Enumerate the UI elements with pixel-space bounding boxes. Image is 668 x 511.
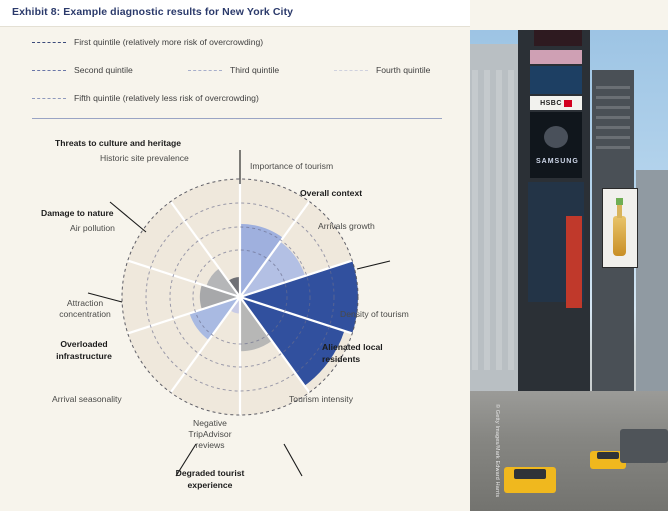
legend-row-2: Second quintile Third quintile Fourth qu… (0, 66, 470, 86)
legend-divider (32, 118, 442, 119)
photo-credit: © Getty Images/Mark Edward Harris (494, 404, 500, 497)
label-degraded-tourist-line2: experience (150, 480, 270, 491)
legend-item-fifth-quintile: Fifth quintile (relatively less risk of … (32, 94, 259, 103)
label-damage-to-nature-group: Damage to nature (41, 208, 114, 219)
photo-billboard-pink (530, 50, 582, 64)
photo-window-strip (472, 70, 478, 370)
photo-billboard-hsbc: HSBC (530, 96, 582, 110)
leader-line-threats (110, 202, 146, 232)
legend: First quintile (relatively more risk of … (0, 28, 470, 116)
photo-beer-bottlecap (616, 198, 623, 205)
label-arrival-seasonality: Arrival seasonality (52, 394, 122, 405)
photo-window-row (596, 136, 630, 139)
page-title: Exhibit 8: Example diagnostic results fo… (12, 6, 293, 18)
title-divider (0, 26, 470, 27)
photo-billboard-top (534, 30, 582, 46)
photo-window-row (596, 86, 630, 89)
legend-row-1: First quintile (relatively more risk of … (0, 38, 470, 58)
exhibit-page: Exhibit 8: Example diagnostic results fo… (0, 0, 668, 511)
legend-dash-icon (32, 42, 66, 43)
leader-line-degraded-right (284, 444, 302, 476)
label-negative-tripadvisor-line2: TripAdvisor (160, 429, 260, 440)
photo-window-row (596, 116, 630, 119)
label-alienated-local-line2: residents (322, 354, 360, 365)
title-bar: Exhibit 8: Example diagnostic results fo… (0, 0, 470, 26)
photo-taxi-left-window (514, 469, 546, 479)
legend-item-third-quintile: Third quintile (188, 66, 279, 75)
label-density-of-tourism: Density of tourism (340, 309, 409, 320)
legend-dash-icon (32, 98, 66, 99)
hsbc-text: HSBC (540, 100, 562, 107)
label-alienated-local-line1: Alienated local (322, 342, 383, 353)
label-historic-site-prevalence: Historic site prevalence (100, 153, 189, 164)
legend-item-fourth-quintile: Fourth quintile (334, 66, 430, 75)
photo-building-far-right (636, 170, 668, 420)
photo-window-row (596, 126, 630, 129)
legend-label: Second quintile (74, 66, 133, 75)
legend-row-3: Fifth quintile (relatively less risk of … (0, 94, 470, 114)
label-negative-tripadvisor-line3: reviews (160, 440, 260, 451)
photo-taxi-right-window (597, 452, 619, 459)
photo-window-row (596, 96, 630, 99)
legend-label: Fourth quintile (376, 66, 430, 75)
label-air-pollution: Air pollution (70, 223, 115, 234)
photo-billboard-graphic (544, 126, 568, 148)
legend-dash-icon (334, 70, 368, 71)
label-arrivals-growth: Arrivals growth (318, 221, 375, 232)
label-attraction-concentration-line2: concentration (42, 309, 128, 320)
hsbc-logo-icon (564, 100, 572, 107)
photo-window-row (596, 146, 630, 149)
photo-window-strip (508, 70, 514, 370)
photo-beer-bottleneck (617, 204, 622, 218)
label-negative-tripadvisor-line1: Negative (160, 418, 260, 429)
label-overloaded-infrastructure-line1: Overloaded (34, 339, 134, 350)
label-degraded-tourist-line1: Degraded tourist (150, 468, 270, 479)
photo-beer-bottle (613, 216, 626, 256)
label-tourism-intensity: Tourism intensity (289, 394, 353, 405)
legend-label: Third quintile (230, 66, 279, 75)
leader-line-overall (357, 261, 390, 269)
label-importance-of-tourism: Importance of tourism (250, 161, 333, 172)
samsung-text: SAMSUNG (536, 158, 579, 165)
label-overloaded-infrastructure-line2: infrastructure (34, 351, 134, 362)
label-threats-to-culture-group: Threats to culture and heritage (55, 138, 181, 149)
photo-billboard-wembley (530, 66, 582, 94)
label-overall-context-group: Overall context (300, 188, 362, 199)
photo-vehicle-far (620, 429, 668, 463)
legend-item-first-quintile: First quintile (relatively more risk of … (32, 38, 263, 47)
legend-dash-icon (188, 70, 222, 71)
legend-label: First quintile (relatively more risk of … (74, 38, 263, 47)
photo-window-strip (484, 70, 490, 370)
label-attraction-concentration-line1: Attraction (42, 298, 128, 309)
legend-dash-icon (32, 70, 66, 71)
legend-item-second-quintile: Second quintile (32, 66, 133, 75)
legend-label: Fifth quintile (relatively less risk of … (74, 94, 259, 103)
photo-red-sign (566, 216, 582, 308)
radar-chart: Threats to culture and heritage Historic… (0, 126, 470, 511)
photo-window-row (596, 106, 630, 109)
photo-window-strip (496, 70, 502, 370)
